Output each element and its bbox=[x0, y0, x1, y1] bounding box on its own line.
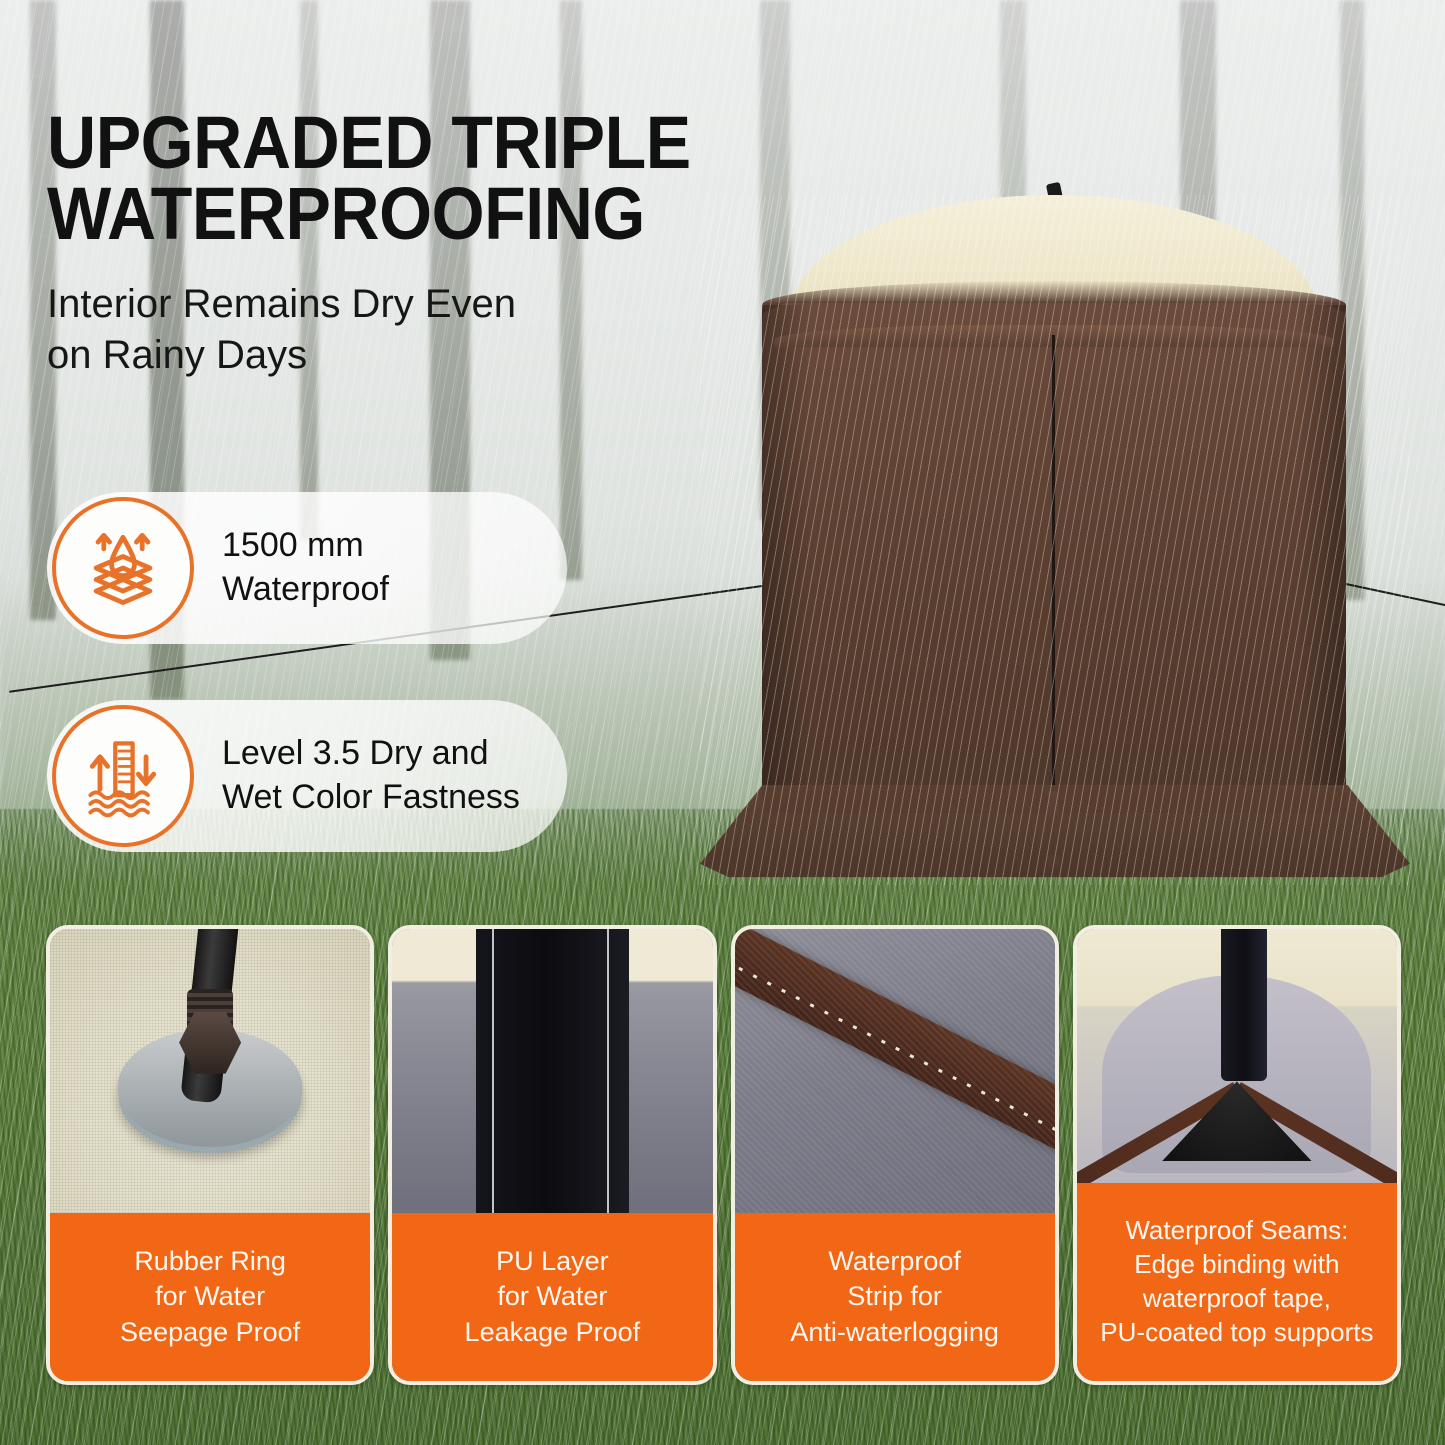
feature-pill-label: 1500 mm Waterproof bbox=[222, 524, 389, 611]
card-caption: Waterproof Strip for Anti-waterlogging bbox=[735, 1213, 1055, 1381]
detail-card-rubber-ring[interactable]: Rubber Ring for Water Seepage Proof bbox=[46, 925, 374, 1385]
card-caption: Waterproof Seams: Edge binding with wate… bbox=[1077, 1183, 1397, 1381]
sidewall-shadow-right bbox=[1298, 305, 1346, 811]
waterproof-seams-photo bbox=[1077, 929, 1397, 1183]
grommet-rubber-ring-photo bbox=[50, 929, 370, 1213]
headline-block: UPGRADED TRIPLE WATERPROOFING Interior R… bbox=[47, 107, 807, 381]
page-title: UPGRADED TRIPLE WATERPROOFING bbox=[47, 107, 746, 249]
detail-card-row: Rubber Ring for Water Seepage Proof PU L… bbox=[46, 925, 1401, 1385]
page-subtitle: Interior Remains Dry Even on Rainy Days bbox=[47, 279, 807, 381]
feature-pill-waterproof[interactable]: 1500 mm Waterproof bbox=[47, 492, 567, 644]
center-pole bbox=[1221, 929, 1267, 1081]
pu-layer-seam-photo bbox=[392, 929, 712, 1213]
feature-pill-label: Level 3.5 Dry and Wet Color Fastness bbox=[222, 732, 520, 819]
detail-card-waterproof-seams[interactable]: Waterproof Seams: Edge binding with wate… bbox=[1073, 925, 1401, 1385]
feature-pill-color-fastness[interactable]: Level 3.5 Dry and Wet Color Fastness bbox=[47, 700, 567, 852]
color-fastness-icon bbox=[52, 705, 194, 847]
door-zipper bbox=[1052, 335, 1055, 811]
waterproof-strip-photo bbox=[735, 929, 1055, 1213]
ground-skirt bbox=[700, 785, 1410, 881]
card-caption: PU Layer for Water Leakage Proof bbox=[392, 1213, 712, 1381]
waterproof-layers-icon bbox=[52, 497, 194, 639]
card-caption: Rubber Ring for Water Seepage Proof bbox=[50, 1213, 370, 1381]
detail-card-waterproof-strip[interactable]: Waterproof Strip for Anti-waterlogging bbox=[731, 925, 1059, 1385]
detail-card-pu-layer[interactable]: PU Layer for Water Leakage Proof bbox=[388, 925, 716, 1385]
